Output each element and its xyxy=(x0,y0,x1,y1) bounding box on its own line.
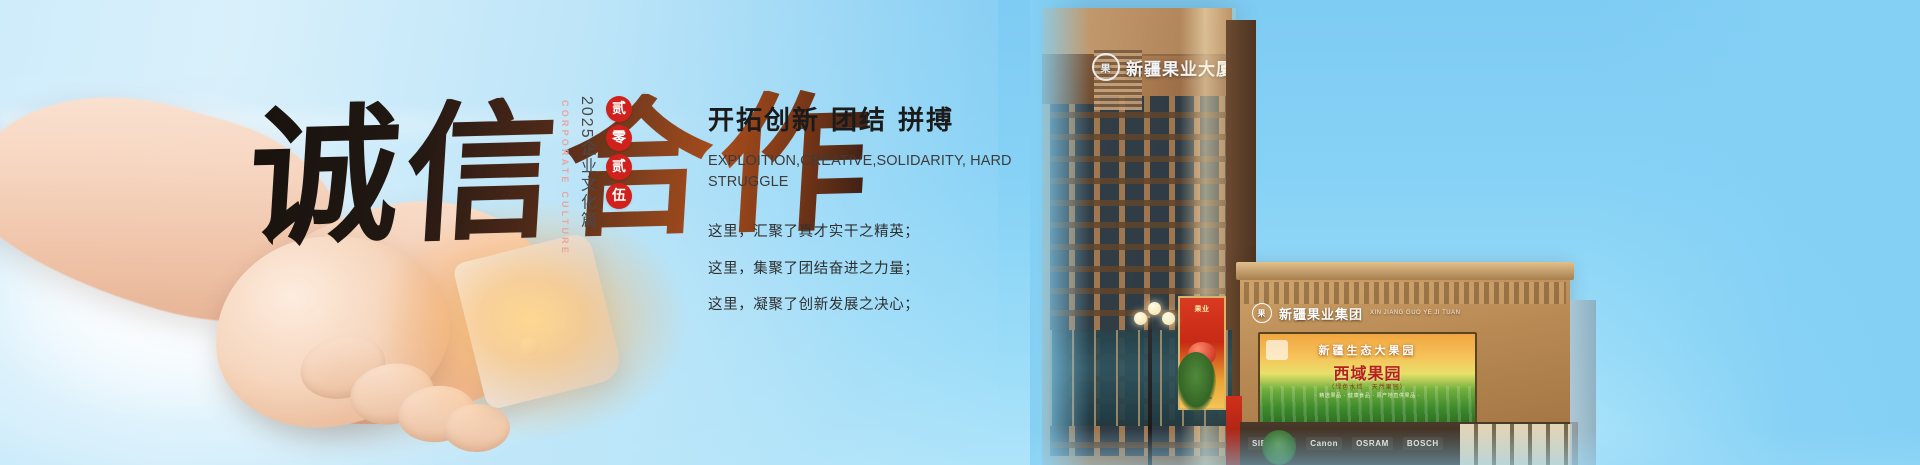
company-logo-icon: 果 xyxy=(1092,53,1120,81)
podium-roof xyxy=(1236,262,1574,280)
street-lamp-globe xyxy=(1162,312,1175,325)
podium-signage-text: 新疆果业集团 xyxy=(1279,304,1363,323)
billboard-top-text: 新疆生态大果园 xyxy=(1260,342,1475,358)
led-billboard: 新疆生态大果园 西域果园 （绿色水域 · 天然果园） · 精选果品 · 健康食品… xyxy=(1258,332,1477,426)
building-right-fade xyxy=(1590,0,1920,465)
podium-signage-pinyin: XIN JIANG GUO YE JI TUAN xyxy=(1370,310,1460,316)
building-left-fade xyxy=(1030,0,1090,465)
group-logo-icon: 果 xyxy=(1252,303,1272,323)
building-bottom-fade xyxy=(1030,429,1920,465)
knuckle-4 xyxy=(443,403,511,453)
slogan-text-column: 开拓创新 团结 拼搏 EXPLOITION,CREATIVE,SOLIDARIT… xyxy=(708,100,1038,335)
street-lamp-globe xyxy=(1134,312,1147,325)
seal-stamp: 贰 xyxy=(606,96,632,122)
english-subtitle: EXPLOITION,CREATIVE,SOLIDARITY, HARD STR… xyxy=(708,151,1038,193)
body-line: 这里，汇聚了真才实干之精英； xyxy=(708,225,1038,240)
street-lamp-globe xyxy=(1148,302,1161,315)
vertical-chinese-label: 2025企业文化篇 xyxy=(574,96,598,230)
billboard-field-rows xyxy=(1260,386,1475,424)
podium-signage: 果 新疆果业集团 XIN JIANG GUO YE JI TUAN xyxy=(1252,300,1482,326)
street-tree xyxy=(1176,352,1216,412)
seal-stack: 贰 零 贰 伍 xyxy=(606,96,632,209)
body-line: 这里，集聚了团结奋进之力量； xyxy=(708,262,1038,277)
corporate-culture-banner: 诚信合作 CORPORATE CULTURE 2025企业文化篇 贰 零 贰 伍… xyxy=(0,0,1920,465)
office-building-photo: 果 新疆果业大厦 果 新疆果业集团 XIN JIANG GUO YE JI TU… xyxy=(1030,0,1920,465)
poster-top-text: 果业 xyxy=(1180,304,1224,314)
billboard-main-text: 西域果园 xyxy=(1260,360,1475,384)
vertical-english-label: CORPORATE CULTURE xyxy=(560,100,570,256)
seal-stamp: 贰 xyxy=(606,154,632,180)
headline-slogan: 开拓创新 团结 拼搏 xyxy=(708,100,1038,137)
seal-stamp: 伍 xyxy=(606,183,632,209)
seal-stamp: 零 xyxy=(606,125,632,151)
vertical-caption-block: CORPORATE CULTURE 2025企业文化篇 贰 零 贰 伍 xyxy=(560,92,632,282)
body-text-block: 这里，汇聚了真才实干之精英； 这里，集聚了团结奋进之力量； 这里，凝聚了创新发展… xyxy=(708,225,1038,313)
body-line: 这里，凝聚了创新发展之决心； xyxy=(708,298,1038,313)
